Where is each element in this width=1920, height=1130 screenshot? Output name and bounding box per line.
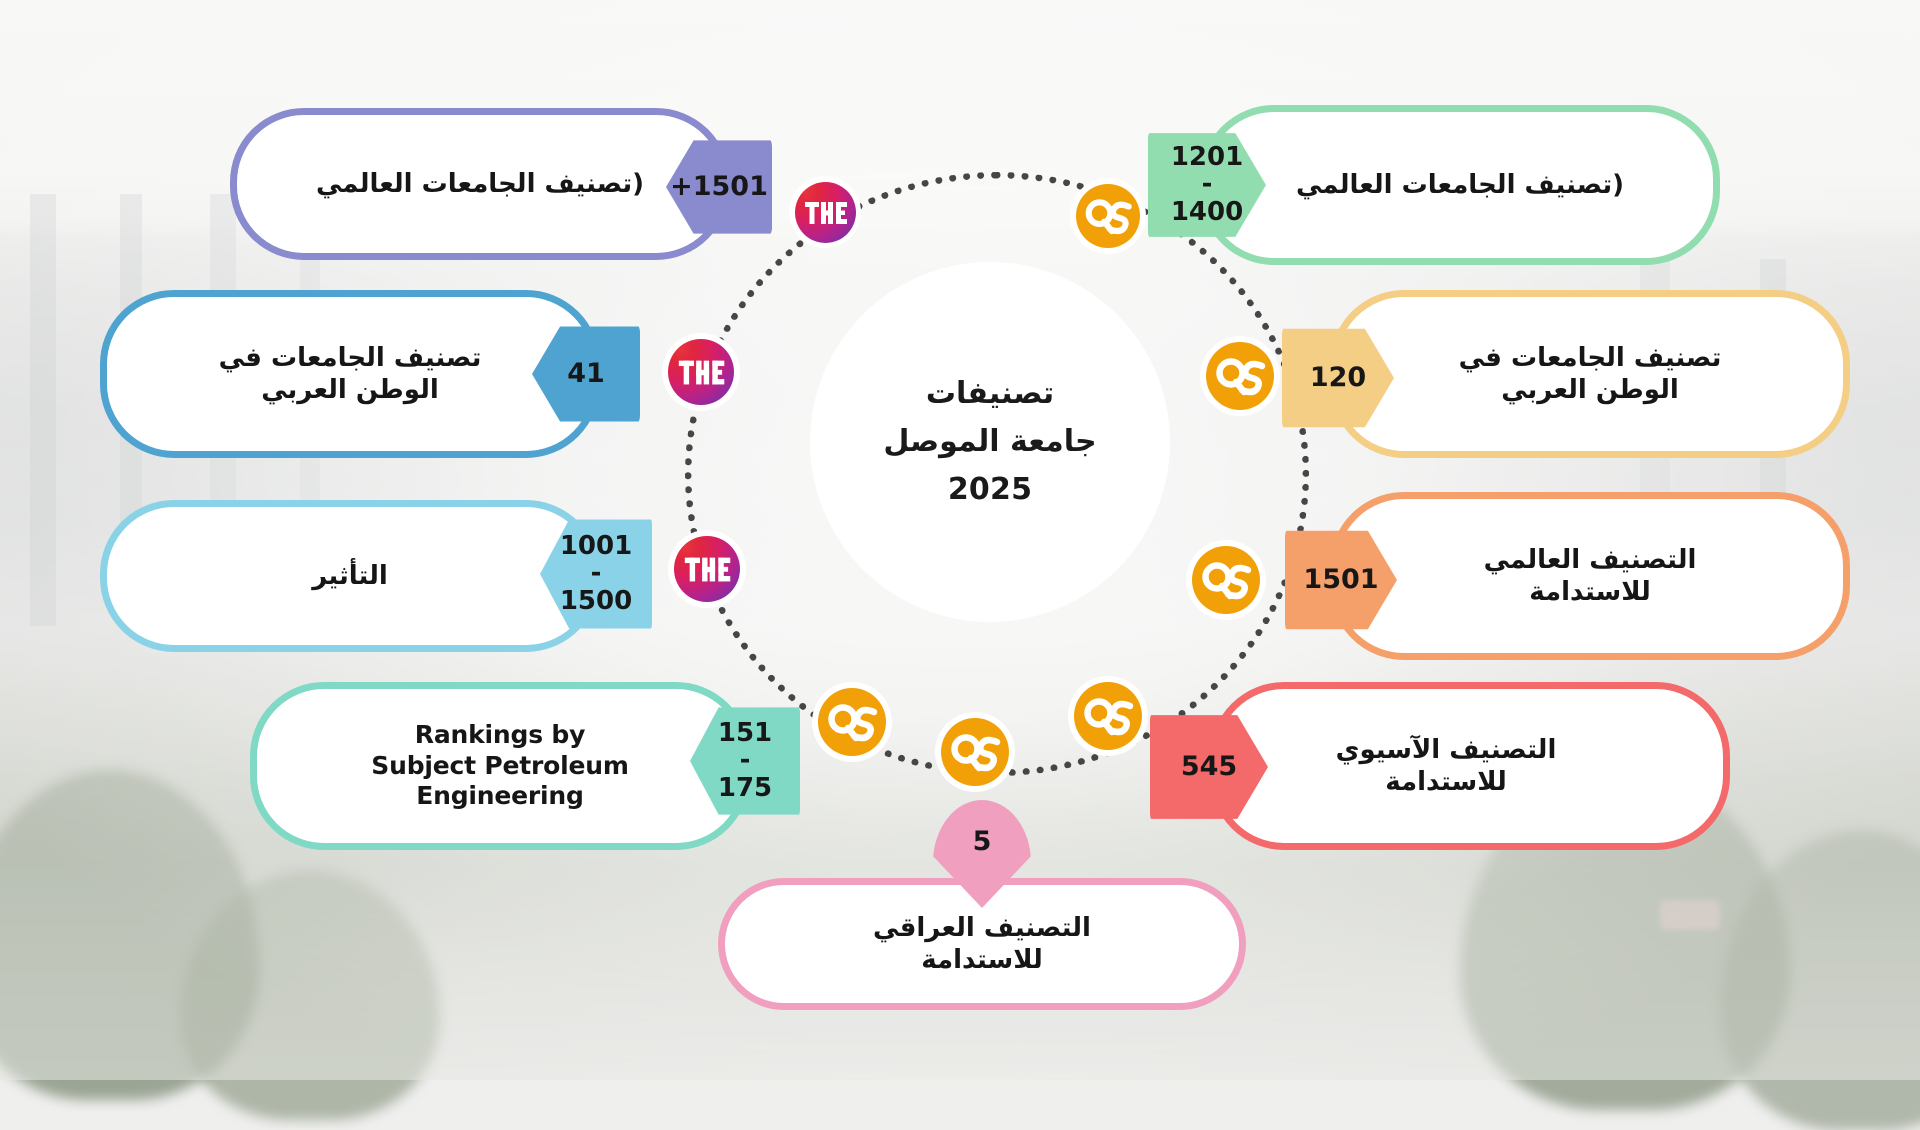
rank-value: 1501 <box>1303 566 1378 594</box>
card-label: التأثير <box>290 560 410 593</box>
rank-value: 1001 - 1500 <box>560 533 632 614</box>
rank-value: 5 <box>973 826 992 857</box>
rank-badge-qs-world-university-rankings: 1201 - 1400 <box>1148 126 1266 244</box>
the-logo-chip-2 <box>662 333 740 411</box>
center-title-line-2: جامعة الموصل <box>883 427 1096 457</box>
qs-logo-chip-2 <box>935 712 1015 792</box>
card-label: تصنيف الجامعات في الوطن العربي <box>1437 342 1744 407</box>
qs-logo-chip-4 <box>1070 178 1146 254</box>
card-label: التصنيف الآسيوي للاستدامة <box>1314 734 1627 799</box>
rank-value: +1501 <box>670 173 768 201</box>
card-label: (تصنيف الجامعات العالمي <box>294 168 666 201</box>
card-the-world-university-rankings[interactable]: (تصنيف الجامعات العالمي <box>230 108 730 260</box>
card-qs-rankings-by-subject[interactable]: Rankings by Subject Petroleum Engineerin… <box>250 682 750 850</box>
rank-badge-the-impact-rankings: 1001 - 1500 <box>540 512 652 636</box>
rank-badge-qs-rankings-by-subject: 151 - 175 <box>690 700 800 822</box>
card-qs-asian-sustainability-ranking[interactable]: التصنيف الآسيوي للاستدامة <box>1210 682 1730 850</box>
card-qs-arab-region-university-rankings[interactable]: تصنيف الجامعات في الوطن العربي <box>1330 290 1850 458</box>
card-the-impact-rankings[interactable]: التأثير <box>100 500 600 652</box>
card-label: التصنيف العالمي للاستدامة <box>1462 544 1719 609</box>
card-label: التصنيف العراقي للاستدامة <box>851 912 1113 977</box>
qs-logo-chip-3 <box>1068 676 1148 756</box>
center-title-circle: تصنيفات جامعة الموصل 2025 <box>810 262 1170 622</box>
card-qs-world-university-rankings[interactable]: (تصنيف الجامعات العالمي <box>1200 105 1720 265</box>
rank-value: 120 <box>1310 364 1366 392</box>
rank-badge-qs-asian-sustainability-ranking: 545 <box>1150 708 1268 826</box>
the-logo-chip-3 <box>668 530 746 608</box>
rank-badge-qs-world-sustainability-ranking: 1501 <box>1285 524 1397 636</box>
card-label: تصنيف الجامعات في الوطن العربي <box>197 342 504 407</box>
rank-value: 41 <box>567 360 605 388</box>
card-the-arab-university-rankings[interactable]: تصنيف الجامعات في الوطن العربي <box>100 290 600 458</box>
card-label: Rankings by Subject Petroleum Engineerin… <box>349 720 650 812</box>
rank-badge-qs-arab-region-university-rankings: 120 <box>1282 322 1394 434</box>
rank-badge-the-world-university-rankings: +1501 <box>666 134 772 240</box>
the-logo-chip-1 <box>789 176 861 248</box>
card-label: (تصنيف الجامعات العالمي <box>1274 169 1646 202</box>
qs-logo-chip-1 <box>812 682 892 762</box>
rank-value: 151 - 175 <box>718 720 772 801</box>
card-qs-world-sustainability-ranking[interactable]: التصنيف العالمي للاستدامة <box>1330 492 1850 660</box>
rank-value: 545 <box>1181 753 1237 781</box>
qs-logo-chip-5 <box>1200 336 1280 416</box>
center-title-line-3: 2025 <box>948 475 1032 505</box>
center-title-line-1: تصنيفات <box>926 379 1054 409</box>
rank-badge-the-arab-university-rankings: 41 <box>532 320 640 428</box>
rank-value: 1201 - 1400 <box>1171 144 1243 225</box>
qs-logo-chip-6 <box>1186 540 1266 620</box>
